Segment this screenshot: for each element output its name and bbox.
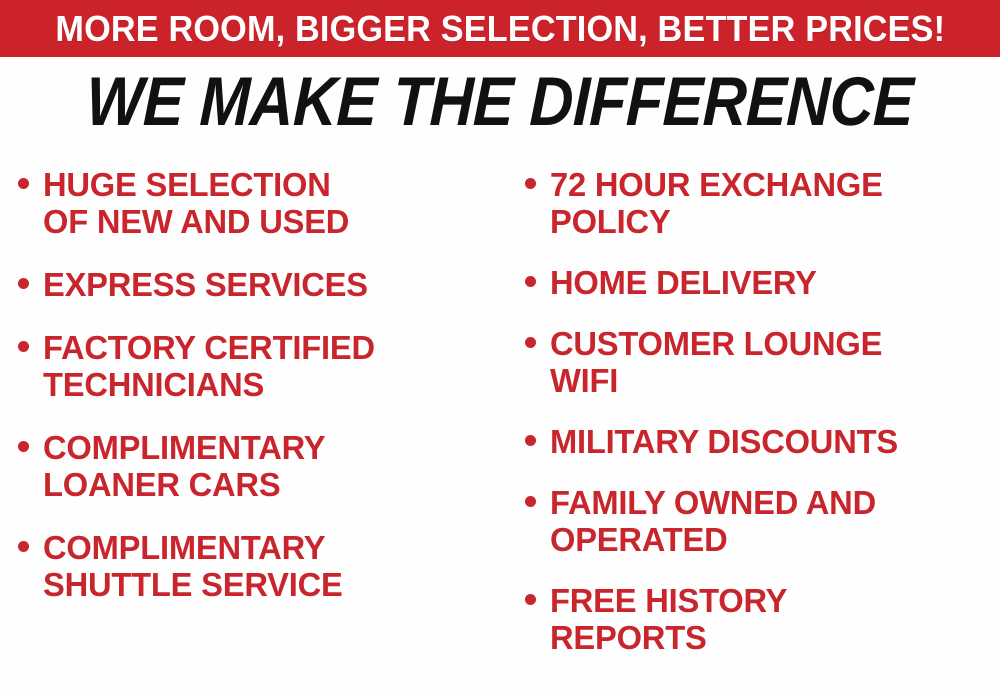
top-banner: MORE ROOM, BIGGER SELECTION, BETTER PRIC…: [0, 0, 1000, 57]
list-item: CUSTOMER LOUNGE WIFI: [525, 325, 1000, 399]
bullet-dot-icon: [18, 441, 29, 452]
bullet-dot-icon: [525, 178, 536, 189]
list-item: FREE HISTORY REPORTS: [525, 582, 1000, 656]
bullet-dot-icon: [18, 178, 29, 189]
features-column-left: HUGE SELECTION OF NEW AND USED EXPRESS S…: [0, 152, 505, 629]
page-title: WE MAKE THE DIFFERENCE: [85, 66, 914, 138]
bullet-dot-icon: [18, 541, 29, 552]
list-item-label: 72 HOUR EXCHANGE POLICY: [550, 166, 883, 240]
list-item-label: FAMILY OWNED AND OPERATED: [550, 484, 876, 558]
list-item: MILITARY DISCOUNTS: [525, 423, 1000, 460]
list-item-label: CUSTOMER LOUNGE WIFI: [550, 325, 882, 399]
features-column-right: 72 HOUR EXCHANGE POLICY HOME DELIVERY CU…: [505, 152, 1000, 680]
list-item: COMPLIMENTARY SHUTTLE SERVICE: [18, 529, 505, 603]
list-item: HOME DELIVERY: [525, 264, 1000, 301]
bullet-dot-icon: [18, 341, 29, 352]
list-item-label: EXPRESS SERVICES: [43, 266, 368, 303]
promo-poster: MORE ROOM, BIGGER SELECTION, BETTER PRIC…: [0, 0, 1000, 694]
list-item-label: FACTORY CERTIFIED TECHNICIANS: [43, 329, 375, 403]
list-item: 72 HOUR EXCHANGE POLICY: [525, 166, 1000, 240]
list-item: HUGE SELECTION OF NEW AND USED: [18, 166, 505, 240]
list-item-label: FREE HISTORY REPORTS: [550, 582, 787, 656]
features-columns: HUGE SELECTION OF NEW AND USED EXPRESS S…: [0, 152, 1000, 694]
list-item-label: COMPLIMENTARY LOANER CARS: [43, 429, 325, 503]
bullet-dot-icon: [18, 278, 29, 289]
bullet-dot-icon: [525, 435, 536, 446]
headline-container: WE MAKE THE DIFFERENCE: [0, 62, 1000, 142]
list-item: EXPRESS SERVICES: [18, 266, 505, 303]
list-item-label: HUGE SELECTION OF NEW AND USED: [43, 166, 349, 240]
list-item-label: MILITARY DISCOUNTS: [550, 423, 898, 460]
bullet-dot-icon: [525, 337, 536, 348]
bullet-dot-icon: [525, 496, 536, 507]
list-item: FACTORY CERTIFIED TECHNICIANS: [18, 329, 505, 403]
list-item-label: HOME DELIVERY: [550, 264, 817, 301]
bullet-dot-icon: [525, 276, 536, 287]
list-item: COMPLIMENTARY LOANER CARS: [18, 429, 505, 503]
top-banner-text: MORE ROOM, BIGGER SELECTION, BETTER PRIC…: [55, 11, 945, 47]
list-item: FAMILY OWNED AND OPERATED: [525, 484, 1000, 558]
bullet-dot-icon: [525, 594, 536, 605]
list-item-label: COMPLIMENTARY SHUTTLE SERVICE: [43, 529, 343, 603]
